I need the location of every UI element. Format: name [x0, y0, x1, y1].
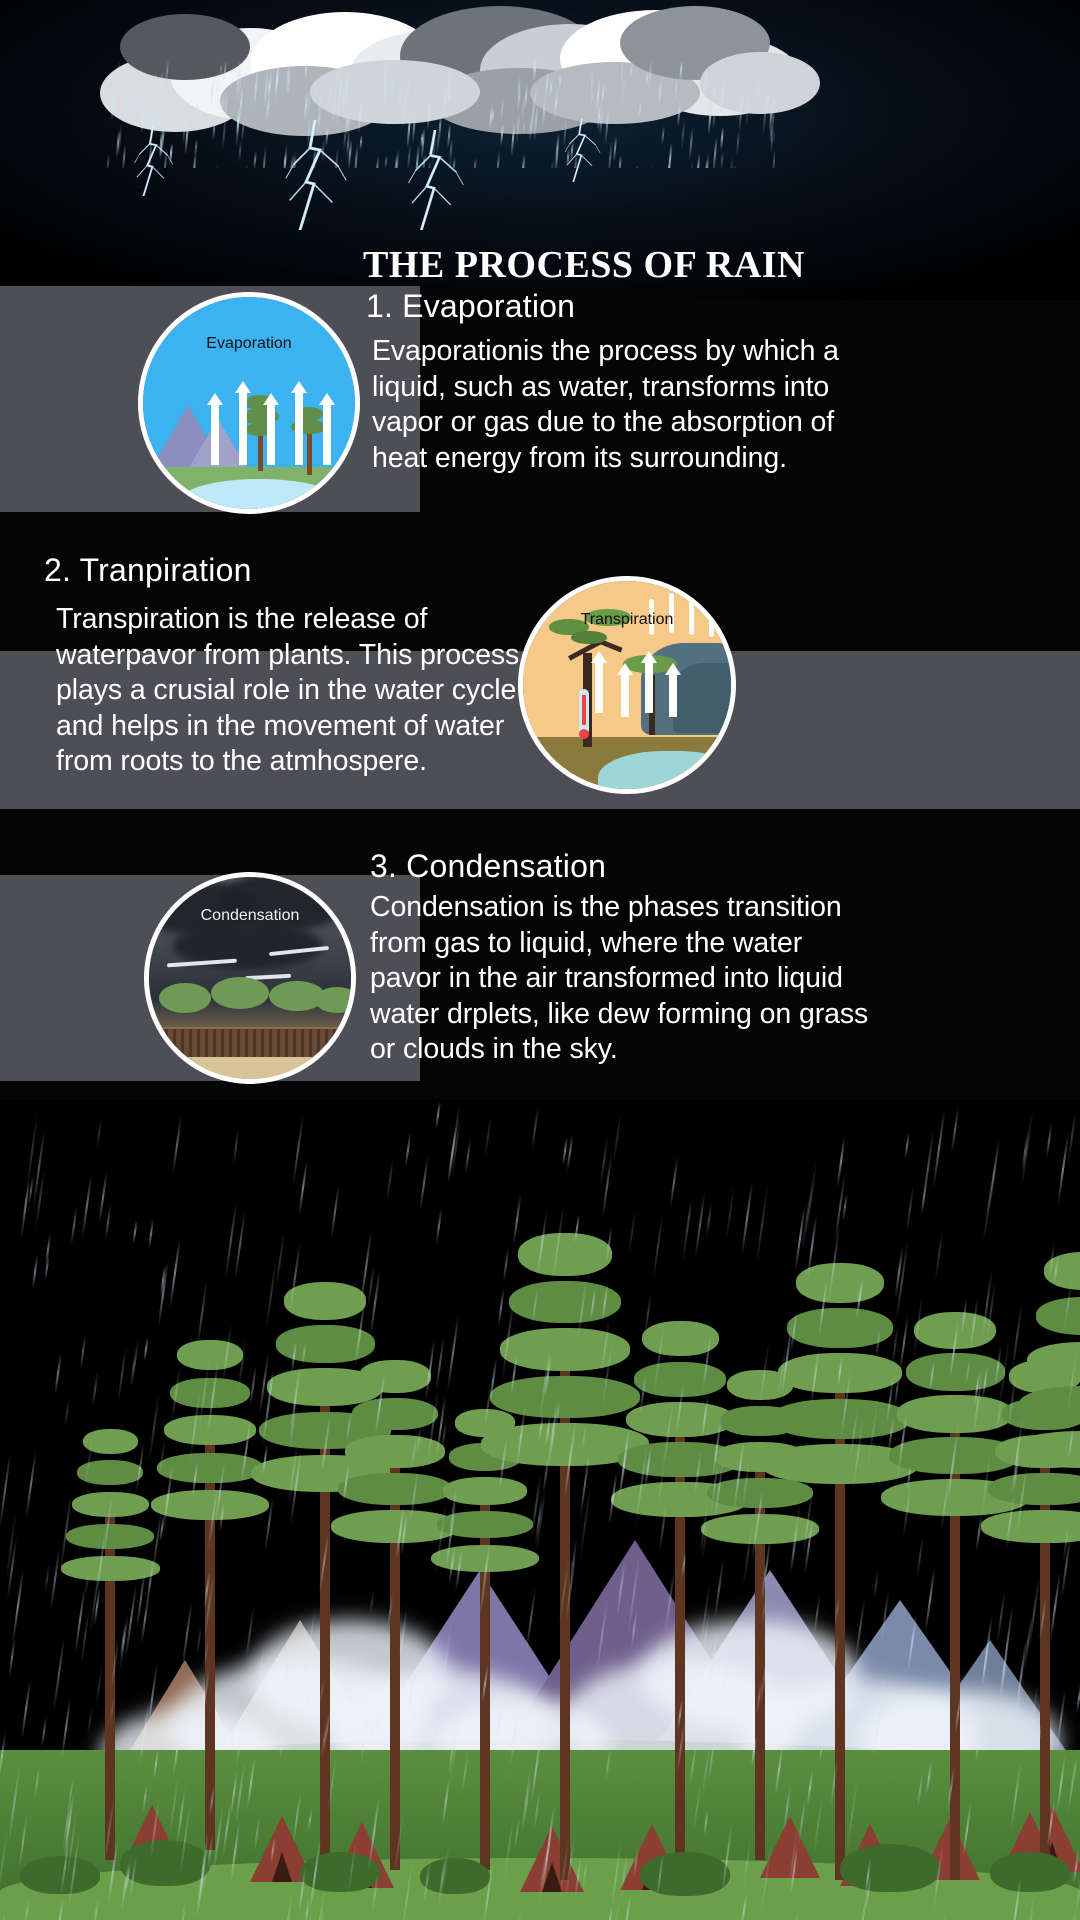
rain-streak [390, 75, 394, 97]
lightning-bolt [560, 118, 604, 182]
bush [990, 1852, 1070, 1892]
rain-streak [545, 69, 550, 102]
rain-streak [842, 1193, 848, 1221]
rain-streak [133, 90, 137, 111]
rain-streak [648, 59, 653, 93]
bush [640, 1852, 730, 1896]
rain-streak [612, 1111, 622, 1167]
rain-streak [662, 126, 666, 145]
rain-streak [934, 1229, 943, 1280]
fence-picket [269, 1029, 272, 1059]
rain-streak [233, 1129, 240, 1164]
lightning-bolt [128, 126, 178, 196]
vapor-arrow [319, 393, 335, 455]
rain-streak [374, 155, 379, 168]
rain-streak [241, 117, 245, 143]
rain-streak [1058, 1134, 1070, 1205]
fence-picket [165, 1029, 168, 1059]
vapor-arrow [641, 651, 657, 703]
rain-streak [745, 87, 750, 126]
fence-picket [333, 1029, 336, 1059]
rain-streak [720, 127, 724, 150]
rain-streak [601, 82, 605, 106]
rain-streak [695, 1192, 706, 1258]
rain-streak [436, 1208, 443, 1244]
rain-streak [357, 98, 362, 134]
evaporation-circle-caption: Evaporation [143, 335, 355, 353]
fence-picket [221, 1029, 224, 1059]
rain-streak [220, 62, 223, 78]
condensation-circle-caption: Condensation [149, 907, 351, 925]
rain-streak [105, 1205, 112, 1240]
rain-streak [677, 101, 681, 127]
rain-streak [719, 77, 725, 120]
rain-streak [405, 1133, 412, 1166]
rain-streak [41, 1717, 47, 1747]
rain-streak [639, 101, 643, 119]
vapor-arrow [263, 393, 279, 455]
fence-picket [197, 1029, 200, 1059]
rain-streak [932, 1109, 945, 1187]
section-heading-transpiration: 2. Tranpiration [44, 552, 604, 589]
rain-streak [330, 1186, 339, 1239]
vapor-arrow [591, 651, 607, 703]
fence-picket [189, 1029, 192, 1059]
section-body-transpiration: Transpiration is the release of waterpav… [56, 602, 526, 780]
rain-streak [500, 96, 505, 125]
fence-picket [229, 1029, 232, 1059]
rain-streak [618, 155, 622, 168]
rain-streak [115, 60, 120, 98]
rain-streak [706, 1203, 713, 1236]
rain-streak [717, 167, 721, 168]
tree-canopy [1036, 1297, 1080, 1335]
fence-picket [261, 1029, 264, 1059]
rain-streak [118, 124, 123, 154]
rain-streak [695, 153, 700, 168]
rain-streak [172, 1116, 182, 1174]
rain-streak [473, 158, 476, 168]
rain-streak [121, 144, 126, 168]
rain-streak [292, 1115, 304, 1186]
fence-picket [245, 1029, 248, 1059]
fence-picket [301, 1029, 304, 1059]
tree-canopy [211, 977, 269, 1009]
rain-streak [713, 136, 718, 168]
forest-footer-illustration [0, 1100, 1080, 1920]
rain-streak [359, 135, 362, 150]
rain-streak [159, 72, 164, 103]
rain-streak [234, 1210, 246, 1280]
rain-streak [21, 1681, 31, 1739]
fence-picket [317, 1029, 320, 1059]
rain-streak [191, 151, 197, 168]
tree-canopy [359, 1360, 431, 1393]
lightning-bolt [400, 130, 470, 230]
rain-streak [98, 1172, 107, 1223]
rain-streak [679, 60, 683, 83]
tree-canopy [66, 1524, 154, 1549]
rain-streak [199, 104, 203, 127]
ground-floor [149, 1057, 351, 1079]
fence-picket [157, 1029, 160, 1059]
rain-streak [531, 1107, 539, 1150]
rain-streak [313, 77, 317, 104]
rain-streak [736, 130, 740, 156]
vapor-arrow [291, 381, 307, 455]
rain-streak [652, 1213, 663, 1279]
rain-streak [420, 1156, 430, 1210]
condensation-circle-image: Condensation [144, 872, 356, 1084]
section-heading-condensation: 3. Condensation [370, 848, 930, 885]
rain-streak [495, 151, 500, 168]
fence-picket [181, 1029, 184, 1059]
rain-streak [143, 1337, 148, 1361]
tree-canopy [518, 1233, 612, 1276]
rain-streak [298, 1160, 308, 1216]
rain-streak [634, 165, 638, 168]
rain-streak [988, 1139, 1000, 1208]
rain-streak [554, 87, 559, 121]
rain-streak [740, 1181, 752, 1256]
fence-picket [285, 1029, 288, 1059]
rain-streak [521, 96, 525, 123]
vapor-arrow [207, 393, 223, 455]
rain-streak [266, 96, 270, 121]
rain-streak [712, 78, 717, 107]
rain-streak [385, 155, 388, 168]
rain-streak [238, 141, 242, 163]
rain-streak [304, 60, 308, 78]
section-body-condensation: Condensation is the phases transition fr… [370, 890, 870, 1068]
rain-streak [542, 98, 547, 128]
fence-picket [149, 1029, 152, 1059]
rain-streak [146, 112, 149, 127]
rain-streak [214, 165, 219, 168]
rain-streak [44, 1565, 50, 1594]
rain-streak [951, 1107, 959, 1153]
rain-streak [223, 60, 227, 82]
rain-streak [169, 1238, 181, 1307]
evaporation-circle-image: Evaporation [138, 292, 360, 514]
rain-streak [55, 1355, 62, 1394]
rain-streak [608, 141, 613, 168]
page-title: THE PROCESS OF RAIN [363, 243, 1063, 287]
rain-streak [20, 1182, 30, 1239]
rain-streak [328, 82, 332, 110]
transpiration-circle-caption: Transpiration [523, 611, 731, 629]
fence-picket [341, 1029, 344, 1059]
tree-canopy [315, 987, 356, 1013]
vapor-arrow [235, 381, 251, 455]
rain-streak [689, 162, 694, 168]
rain-streak [132, 1220, 137, 1244]
rain-streak [629, 61, 633, 83]
rain-streak [921, 1130, 934, 1206]
rain-streak [1046, 1124, 1053, 1158]
rain-streak [682, 1201, 692, 1262]
rain-streak [491, 108, 494, 124]
rain-streak [548, 160, 554, 168]
thermometer-icon [579, 689, 589, 735]
rain-streak [244, 165, 248, 168]
rain-streak [165, 60, 169, 84]
rain-streak [117, 1347, 127, 1402]
fence-picket [237, 1029, 240, 1059]
rain-streak [558, 72, 562, 91]
vapor-arrow [665, 663, 681, 707]
rain-streak [307, 90, 311, 116]
fence-picket [205, 1029, 208, 1059]
rain-streak [521, 154, 526, 168]
rain-streak [92, 1372, 99, 1408]
fence-picket [253, 1029, 256, 1059]
bush [840, 1844, 940, 1892]
rain-streak [0, 1453, 11, 1530]
tree-canopy [159, 983, 211, 1013]
rain-streak [80, 1335, 87, 1369]
rain-streak [484, 1116, 492, 1157]
rain-streak [613, 135, 617, 161]
fence-picket [309, 1029, 312, 1059]
rain-streak [762, 94, 768, 136]
rain-streak [516, 109, 521, 145]
rain-streak [427, 99, 432, 130]
rain-streak [171, 96, 174, 111]
rain-streak [153, 73, 157, 94]
rain-streak [906, 1184, 915, 1233]
rain-streak [148, 1219, 154, 1249]
rain-streak [398, 84, 402, 110]
rain-streak [1067, 1110, 1076, 1163]
fence-picket [325, 1029, 328, 1059]
wooden-fence [149, 1029, 351, 1059]
rain-streak [82, 1175, 93, 1237]
rain-streak [261, 146, 266, 168]
rain-streak [253, 151, 257, 168]
rain-streak [673, 76, 677, 102]
rain-streak [774, 118, 775, 144]
rain-streak [12, 1569, 24, 1642]
rain-streak [604, 107, 609, 145]
rain-streak [435, 1101, 441, 1129]
rain-streak [500, 123, 504, 146]
tree-canopy [177, 1340, 243, 1370]
tree-canopy [352, 1398, 438, 1431]
rain-streak [9, 1638, 16, 1677]
rain-streak [107, 154, 111, 168]
section-heading-evaporation: 1. Evaporation [366, 288, 926, 325]
rain-streak [71, 1207, 78, 1244]
rain-streak [1020, 1110, 1033, 1187]
rain-streak [707, 102, 712, 136]
rain-streak [720, 152, 723, 168]
rain-streak [670, 1158, 679, 1208]
fence-picket [293, 1029, 296, 1059]
rain-streak [406, 77, 410, 102]
rain-streak [704, 69, 708, 92]
rain-streak [590, 90, 593, 106]
vapor-arrow [617, 663, 633, 707]
rain-streak [465, 1139, 472, 1173]
rain-streak [96, 1119, 102, 1148]
tree-canopy [284, 1282, 367, 1320]
rain-streak [712, 111, 716, 129]
rain-streak [689, 128, 694, 160]
rain-streak [725, 1187, 735, 1242]
rain-streak [904, 1133, 910, 1159]
lightning-bolt [280, 120, 350, 230]
rain-streak [680, 120, 685, 150]
rain-streak [658, 77, 663, 109]
rain-streak [353, 143, 358, 168]
rain-streak [25, 1451, 36, 1517]
rain-streak [212, 119, 216, 141]
fence-picket [173, 1029, 176, 1059]
rain-streak [549, 79, 553, 97]
rain-streak [647, 165, 653, 168]
fence-picket [213, 1029, 216, 1059]
rain-streak [253, 68, 258, 108]
rain-streak [386, 1157, 394, 1201]
section-body-evaporation: Evaporationis the process by which a liq… [372, 334, 842, 476]
transpiration-circle-image: Transpiration [518, 576, 736, 794]
fence-picket [277, 1029, 280, 1059]
rain-streak [32, 1255, 39, 1289]
rain-streak [755, 77, 760, 112]
rain-streak [110, 90, 114, 117]
